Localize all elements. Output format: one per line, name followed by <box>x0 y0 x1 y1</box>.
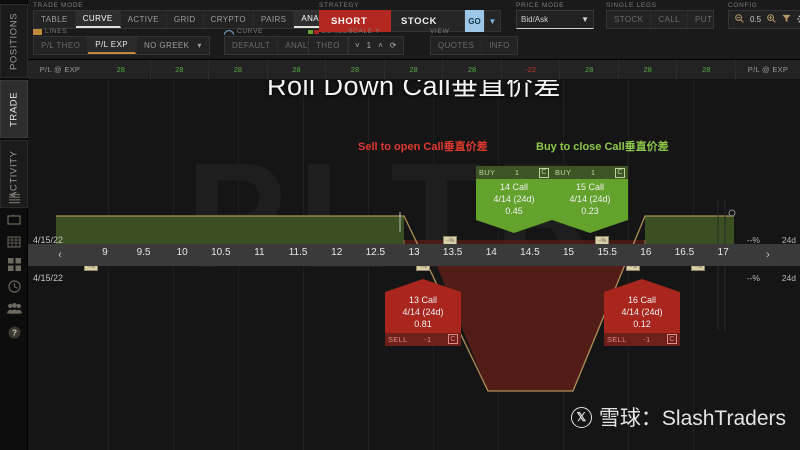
lines-group: LINES P/L THEO P/L EXP NO GREEK ▾ <box>33 28 210 55</box>
leg-action: SELL <box>607 335 627 344</box>
right-pct-bottom: --% <box>747 273 760 283</box>
grid-icon[interactable] <box>4 254 24 274</box>
leg-qty: 1 <box>591 168 595 177</box>
brand-text: 雪球：SlashTraders <box>599 402 786 432</box>
curve-swatch-icon <box>224 29 234 35</box>
pl-cell: 28 <box>677 60 736 80</box>
sidebar-item-positions[interactable]: POSITIONS <box>0 4 28 78</box>
scale-y-label: SCALE Y <box>348 28 404 35</box>
leg-header: SELL -1 C <box>385 333 461 346</box>
curve-label: CURVE <box>237 28 263 35</box>
zoom-in-icon[interactable] <box>767 14 776 25</box>
left-navigation-rail: POSITIONS TRADE ACTIVITY ? <box>0 0 28 450</box>
leg-price: 0.81 <box>385 319 461 331</box>
single-legs-buttons: STOCK CALL PUT <box>606 10 714 29</box>
x-tick: 13.5 <box>443 247 462 258</box>
pl-at-exp-strip: P/L @ EXP 28 28 28 28 28 28 28 -22 28 28… <box>28 60 800 80</box>
pl-cell: 28 <box>151 60 210 80</box>
pl-strip-right-label: P/L @ EXP <box>736 65 800 74</box>
trade-mode-label: TRADE MODE <box>33 2 351 9</box>
annotation-sell-to-open: Sell to open Call垂直价差 <box>358 138 488 154</box>
toggle-pl-theo[interactable]: P/L THEO <box>34 37 88 54</box>
top-toolbar: TRADE MODE TABLE CURVE ACTIVE GRID CRYPT… <box>28 0 800 60</box>
view-label: VIEW <box>430 28 518 35</box>
chevron-up-icon[interactable]: ˄ <box>378 41 383 50</box>
leg-body: 14 Call 4/14 (24d) 0.45 <box>476 179 552 220</box>
pl-cell: 28 <box>92 60 151 80</box>
leg-expiry: 4/14 (24d) <box>476 194 552 206</box>
single-legs-group: SINGLE LEGS STOCK CALL PUT <box>606 2 714 29</box>
leg-price: 0.23 <box>552 206 628 218</box>
leg-buy-14-call[interactable]: BUY 1 C 14 Call 4/14 (24d) 0.45 <box>476 166 552 233</box>
leg-header: BUY 1 C <box>552 166 628 179</box>
leg-strike: 13 Call <box>385 295 461 307</box>
leg-price: 0.45 <box>476 206 552 218</box>
right-dte-top: 24d <box>782 235 796 245</box>
greek-select-value: NO GREEK <box>144 41 189 50</box>
leg-body: 16 Call 4/14 (24d) 0.12 <box>604 292 680 333</box>
trade-mode-buttons: TABLE CURVE ACTIVE GRID CRYPTO PAIRS ANA… <box>33 10 351 29</box>
leg-pointer <box>476 220 552 233</box>
pl-cell: 28 <box>268 60 327 80</box>
help-icon[interactable]: ? <box>4 322 24 342</box>
xueqiu-logo-icon: 𝕏 <box>571 407 592 428</box>
x-tick: 12 <box>331 247 342 258</box>
scale-y-stepper: ˅ 1 ˄ ⟳ <box>348 36 404 55</box>
leg-qty: -1 <box>424 335 431 344</box>
tab-active[interactable]: ACTIVE <box>121 11 167 28</box>
people-icon[interactable] <box>4 298 24 318</box>
leg-pointer <box>385 279 461 292</box>
lines-label: LINES <box>45 28 67 35</box>
leg-pointer <box>552 220 628 233</box>
filter-icon[interactable] <box>782 14 791 25</box>
chevron-down-icon: ▾ <box>197 41 201 50</box>
x-tick: 16.5 <box>675 247 694 258</box>
config-group: CONFIG 0.5 <box>728 2 800 29</box>
leg-qty: -1 <box>643 335 650 344</box>
x-tick: 10.5 <box>211 247 230 258</box>
x-tick: 9.5 <box>137 247 151 258</box>
zones-theo-button[interactable]: THEO <box>309 37 348 54</box>
pl-cell: 28 <box>326 60 385 80</box>
x-tick: 14.5 <box>520 247 539 258</box>
prev-expiry-button[interactable]: ‹ <box>28 249 92 261</box>
next-expiry-button[interactable]: › <box>736 249 800 261</box>
price-mode-select[interactable]: Bid/Ask ▼ <box>516 10 594 29</box>
leg-header: BUY 1 C <box>476 166 552 179</box>
pl-strip-cells: 28 28 28 28 28 28 28 -22 28 28 28 <box>92 60 736 80</box>
leg-strike: 14 Call <box>476 182 552 194</box>
view-group: VIEW QUOTES INFO <box>430 28 518 55</box>
spreadsheet-icon[interactable] <box>4 232 24 252</box>
leg-expiry: 4/14 (24d) <box>604 307 680 319</box>
pl-cell: 28 <box>560 60 619 80</box>
leg-sell-16-call[interactable]: 16 Call 4/14 (24d) 0.12 SELL -1 C <box>604 279 680 346</box>
svg-text:?: ? <box>11 327 16 337</box>
x-tick: 10 <box>177 247 188 258</box>
x-tick: 9 <box>102 247 108 258</box>
single-leg-put-button[interactable]: PUT <box>688 11 719 28</box>
x-tick: 14 <box>486 247 497 258</box>
annotation-buy-to-close: Buy to close Call垂直价差 <box>536 138 669 154</box>
lines-buttons: P/L THEO P/L EXP NO GREEK ▾ <box>33 36 210 55</box>
leg-pointer <box>604 279 680 292</box>
x-tick: 16 <box>640 247 651 258</box>
x-tick: 15 <box>563 247 574 258</box>
leg-sell-13-call[interactable]: 13 Call 4/14 (24d) 0.81 SELL -1 C <box>385 279 461 346</box>
x-tick: 15.5 <box>597 247 616 258</box>
pl-cell: 28 <box>385 60 444 80</box>
scale-y-value: 1 <box>367 41 371 50</box>
config-zoom-value: 0.5 <box>750 15 761 24</box>
refresh-icon[interactable]: ⟳ <box>390 41 397 50</box>
curve-default-button[interactable]: DEFAULT <box>225 37 278 54</box>
zoom-out-icon[interactable] <box>735 14 744 25</box>
chevron-down-icon: ▼ <box>581 15 589 24</box>
leg-qty: 1 <box>515 168 519 177</box>
leg-strike: 15 Call <box>552 182 628 194</box>
strategy-label: STRATEGY <box>319 2 501 9</box>
sidebar-item-trade[interactable]: TRADE <box>0 80 28 138</box>
view-quotes-button[interactable]: QUOTES <box>431 37 482 54</box>
single-leg-call-button[interactable]: CALL <box>651 11 688 28</box>
tab-curve[interactable]: CURVE <box>76 11 121 28</box>
pl-cell: 28 <box>443 60 502 80</box>
leg-body: 15 Call 4/14 (24d) 0.23 <box>552 179 628 220</box>
monitor-icon[interactable] <box>4 210 24 230</box>
view-buttons: QUOTES INFO <box>430 36 518 55</box>
view-info-button[interactable]: INFO <box>482 37 517 54</box>
x-tick: 11.5 <box>289 247 308 258</box>
tab-pairs[interactable]: PAIRS <box>254 11 294 28</box>
leg-type-icon: C <box>667 334 677 344</box>
config-controls: 0.5 <box>728 10 800 29</box>
price-mode-value: Bid/Ask <box>521 15 548 24</box>
page-title: Roll Down Call垂直价差 <box>28 80 800 103</box>
x-tick: 13 <box>408 247 419 258</box>
list-icon[interactable] <box>4 188 24 208</box>
leg-action: BUY <box>479 168 495 177</box>
right-dte-bottom: 24d <box>782 273 796 283</box>
date-label-bottom: 4/15/22 <box>33 273 63 283</box>
price-mode-label: PRICE MODE <box>516 2 594 9</box>
x-axis: ‹ 9 9.5 10 10.5 11 11.5 12 12.5 13 13.5 … <box>28 244 800 266</box>
x-tick: 11 <box>254 247 264 258</box>
trading-analysis-window: POSITIONS TRADE ACTIVITY ? <box>0 0 800 450</box>
toggle-pl-exp[interactable]: P/L EXP <box>88 37 136 54</box>
pl-cell: 28 <box>619 60 678 80</box>
chevron-right-icon: › <box>766 249 770 261</box>
trade-mode-group: TRADE MODE TABLE CURVE ACTIVE GRID CRYPT… <box>33 2 351 29</box>
right-pct-top: --% <box>747 235 760 245</box>
leg-type-icon: C <box>448 334 458 344</box>
leg-action: BUY <box>555 168 571 177</box>
sidebar-item-positions-label: POSITIONS <box>9 12 20 69</box>
scale-y-group: SCALE Y ˅ 1 ˄ ⟳ <box>348 28 404 55</box>
pl-cell: 28 <box>209 60 268 80</box>
leg-price: 0.12 <box>604 319 680 331</box>
lines-label-row: LINES <box>33 28 210 35</box>
payoff-chart[interactable]: Roll Down Call垂直价差 PLTR Roll Down Call垂直… <box>28 80 800 450</box>
leg-action: SELL <box>388 335 408 344</box>
x-tick: 12.5 <box>366 247 385 258</box>
x-axis-ticks: 9 9.5 10 10.5 11 11.5 12 12.5 13 13.5 14… <box>92 244 736 266</box>
leg-type-icon: C <box>539 168 549 178</box>
chevron-down-icon[interactable]: ˅ <box>355 41 360 50</box>
pl-strip-left-label: P/L @ EXP <box>28 65 92 74</box>
brand-watermark: 𝕏 雪球：SlashTraders <box>571 402 786 432</box>
greek-select[interactable]: NO GREEK ▾ <box>136 37 209 54</box>
pl-cell: -22 <box>502 60 561 80</box>
config-label: CONFIG <box>728 2 800 9</box>
single-leg-stock-button[interactable]: STOCK <box>607 11 651 28</box>
leg-expiry: 4/14 (24d) <box>552 194 628 206</box>
leg-expiry: 4/14 (24d) <box>385 307 461 319</box>
leg-body: 13 Call 4/14 (24d) 0.81 <box>385 292 461 333</box>
price-mode-group: PRICE MODE Bid/Ask ▼ <box>516 2 594 29</box>
line-swatch-icon <box>33 29 42 35</box>
tab-crypto[interactable]: CRYPTO <box>204 11 254 28</box>
clock-icon[interactable] <box>4 276 24 296</box>
tab-table[interactable]: TABLE <box>34 11 76 28</box>
x-tick: 17 <box>718 247 729 258</box>
zones-swatch-icon <box>308 30 319 34</box>
sidebar-item-trade-label: TRADE <box>9 91 20 126</box>
chevron-left-icon: ‹ <box>58 249 62 261</box>
tab-grid[interactable]: GRID <box>167 11 204 28</box>
leg-strike: 16 Call <box>604 295 680 307</box>
leg-type-icon: C <box>615 168 625 178</box>
single-legs-label: SINGLE LEGS <box>606 2 714 9</box>
leg-header: SELL -1 C <box>604 333 680 346</box>
date-label-top: 4/15/22 <box>33 235 63 245</box>
leg-buy-15-call[interactable]: BUY 1 C 15 Call 4/14 (24d) 0.23 <box>552 166 628 233</box>
